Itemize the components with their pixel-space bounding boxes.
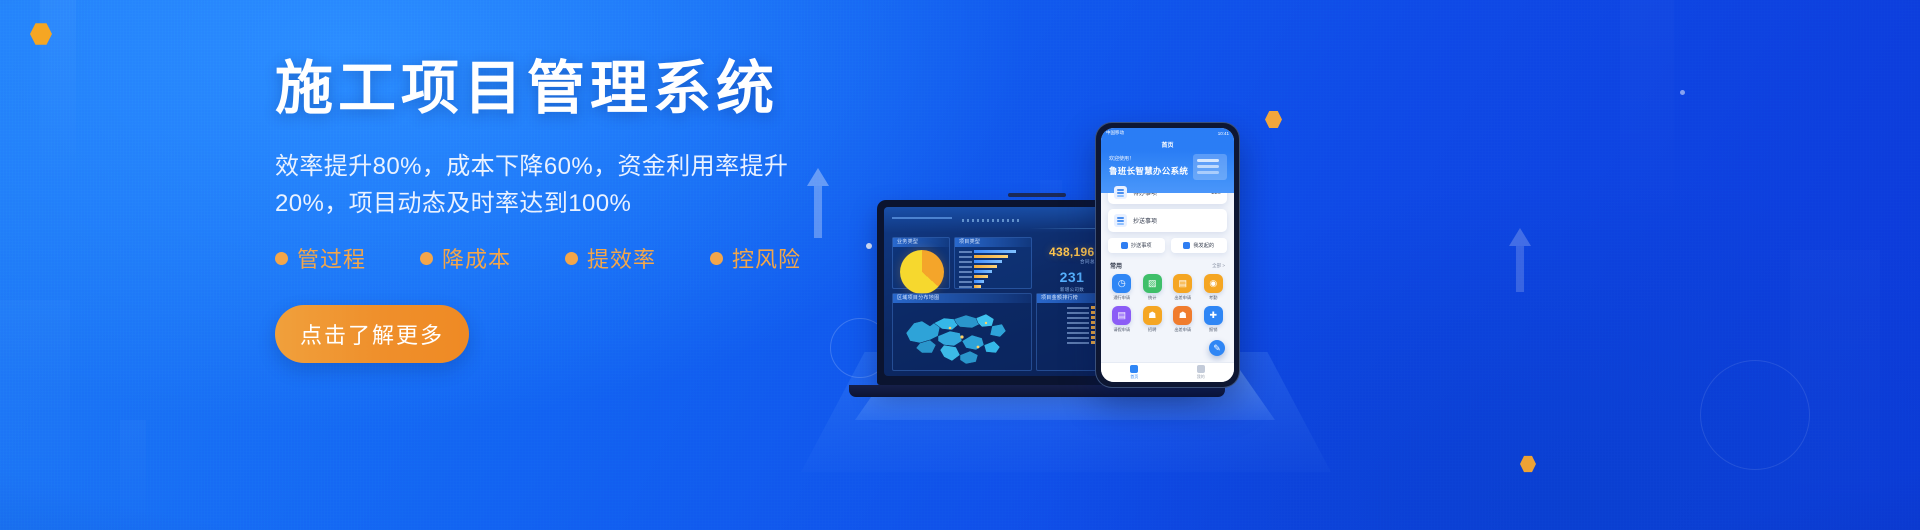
cc-icon bbox=[1121, 242, 1128, 249]
initiated-icon bbox=[1183, 242, 1190, 249]
feature-item-improve-efficiency: 提效率 bbox=[565, 242, 656, 274]
hero-subtitle-line-1: 效率提升80%，成本下降60%，资金利用率提升 bbox=[275, 148, 795, 185]
business-trip-icon: ▤ bbox=[1173, 274, 1192, 293]
app-item-access-request[interactable]: ◷ 通行申请 bbox=[1108, 274, 1136, 301]
app-label: 出差申请 bbox=[1174, 327, 1191, 333]
phone-app-grid: ◷ 通行申请 ▨ 统计 ▤ 出差申请 ◉ 考勤 bbox=[1108, 274, 1227, 333]
deco-vertical-bar bbox=[0, 300, 70, 530]
dashboard-panel-project-type: 项目类型 bbox=[954, 237, 1032, 289]
hero-subtitle-line-2: 20%，项目动态及时率达到100% bbox=[275, 185, 795, 222]
app-item-recruitment[interactable]: ☗ 招聘 bbox=[1139, 306, 1167, 333]
app-label: 报销 bbox=[1209, 327, 1217, 333]
horizontal-bar-chart bbox=[959, 250, 1016, 288]
tab-profile[interactable]: 我的 bbox=[1168, 363, 1235, 382]
tab-label: 首页 bbox=[1130, 374, 1138, 380]
feature-label: 控风险 bbox=[732, 242, 801, 274]
reimbursement-icon: ✚ bbox=[1204, 306, 1223, 325]
app-item-statistics[interactable]: ▨ 统计 bbox=[1139, 274, 1167, 301]
dashboard-stat-new-companies: 231 新增公司数 bbox=[1044, 269, 1100, 293]
feature-item-manage-process: 管过程 bbox=[275, 242, 366, 274]
quick-action-initiated[interactable]: 我发起的 bbox=[1171, 238, 1228, 253]
card-label: 抄送事项 bbox=[1133, 216, 1157, 225]
pie-chart bbox=[900, 250, 944, 294]
dashboard-header-decoration bbox=[892, 214, 1032, 226]
document-clock-icon bbox=[1114, 186, 1127, 199]
feature-label: 降成本 bbox=[442, 242, 511, 274]
phone-status-bar: 中国移动 10:41 bbox=[1101, 128, 1234, 138]
leave-request-icon: ▤ bbox=[1112, 306, 1131, 325]
stat-value: 231 bbox=[1044, 269, 1100, 285]
app-label: 统计 bbox=[1148, 295, 1156, 301]
bullet-dot-icon bbox=[710, 252, 723, 265]
deco-vertical-bar bbox=[120, 420, 146, 530]
app-label: 请假申请 bbox=[1113, 327, 1130, 333]
recruitment-icon: ☗ bbox=[1143, 306, 1162, 325]
section-title: 常用 bbox=[1110, 261, 1122, 270]
learn-more-button[interactable]: 点击了解更多 bbox=[275, 305, 469, 363]
quick-action-cc[interactable]: 抄送事项 bbox=[1108, 238, 1165, 253]
section-more-link[interactable]: 全部 > bbox=[1212, 263, 1225, 269]
china-map-chart bbox=[900, 293, 1012, 371]
app-item-business-trip[interactable]: ▤ 出差申请 bbox=[1169, 274, 1197, 301]
hero-subtitle: 效率提升80%，成本下降60%，资金利用率提升 20%，项目动态及时率达到100… bbox=[275, 148, 795, 222]
status-time: 10:41 bbox=[1218, 131, 1229, 136]
laptop-camera-bar bbox=[1008, 193, 1066, 197]
feature-item-reduce-cost: 降成本 bbox=[420, 242, 511, 274]
phone-screen: 中国移动 10:41 首页 欢迎使用！ 鲁班长智慧办公系统 待办事项 120 抄… bbox=[1101, 128, 1234, 382]
phone-tab-bar: 首页 我的 bbox=[1101, 362, 1234, 382]
app-item-reimbursement[interactable]: ✚ 报销 bbox=[1200, 306, 1228, 333]
status-carrier: 中国移动 bbox=[1106, 130, 1124, 136]
app-item-trip-apply[interactable]: ☗ 出差申请 bbox=[1169, 306, 1197, 333]
bullet-dot-icon bbox=[420, 252, 433, 265]
access-request-icon: ◷ bbox=[1112, 274, 1131, 293]
statistics-icon: ▨ bbox=[1143, 274, 1162, 293]
app-item-attendance[interactable]: ◉ 考勤 bbox=[1200, 274, 1228, 301]
action-label: 抄送事项 bbox=[1131, 242, 1152, 249]
device-showcase: 市场管理报表 业务类型 项目类型 bbox=[795, 0, 1920, 530]
phone-card-cc[interactable]: 抄送事项 bbox=[1108, 209, 1227, 232]
panel-header: 业务类型 bbox=[893, 238, 949, 247]
attendance-icon: ◉ bbox=[1204, 274, 1223, 293]
app-label: 考勤 bbox=[1209, 295, 1217, 301]
bullet-dot-icon bbox=[275, 252, 288, 265]
phone-welcome-text: 欢迎使用！ bbox=[1109, 155, 1226, 162]
tab-home[interactable]: 首页 bbox=[1101, 363, 1168, 382]
compose-fab-button[interactable]: ✎ bbox=[1209, 340, 1225, 356]
bullet-dot-icon bbox=[565, 252, 578, 265]
deco-hexagon-icon bbox=[30, 22, 52, 46]
trip-apply-icon: ☗ bbox=[1173, 306, 1192, 325]
dashboard-panel-business-type: 业务类型 bbox=[892, 237, 950, 289]
action-label: 我发起的 bbox=[1193, 242, 1214, 249]
tab-label: 我的 bbox=[1197, 374, 1205, 380]
phone-quick-actions: 抄送事项 我发起的 bbox=[1108, 238, 1227, 253]
phone-device: 中国移动 10:41 首页 欢迎使用！ 鲁班长智慧办公系统 待办事项 120 抄… bbox=[1095, 122, 1240, 388]
feature-label: 管过程 bbox=[297, 242, 366, 274]
app-label: 通行申请 bbox=[1113, 295, 1130, 301]
document-send-icon bbox=[1114, 214, 1127, 227]
person-icon bbox=[1197, 365, 1205, 373]
phone-section-header: 常用 全部 > bbox=[1110, 261, 1225, 270]
panel-header: 项目类型 bbox=[955, 238, 1031, 247]
app-item-leave-request[interactable]: ▤ 请假申请 bbox=[1108, 306, 1136, 333]
app-label: 出差申请 bbox=[1174, 295, 1191, 301]
phone-nav-title: 首页 bbox=[1101, 138, 1234, 151]
feature-item-control-risk: 控风险 bbox=[710, 242, 801, 274]
hero-banner: 施工项目管理系统 效率提升80%，成本下降60%，资金利用率提升 20%，项目动… bbox=[0, 0, 1920, 530]
app-label: 招聘 bbox=[1148, 327, 1156, 333]
home-icon bbox=[1130, 365, 1138, 373]
feature-label: 提效率 bbox=[587, 242, 656, 274]
